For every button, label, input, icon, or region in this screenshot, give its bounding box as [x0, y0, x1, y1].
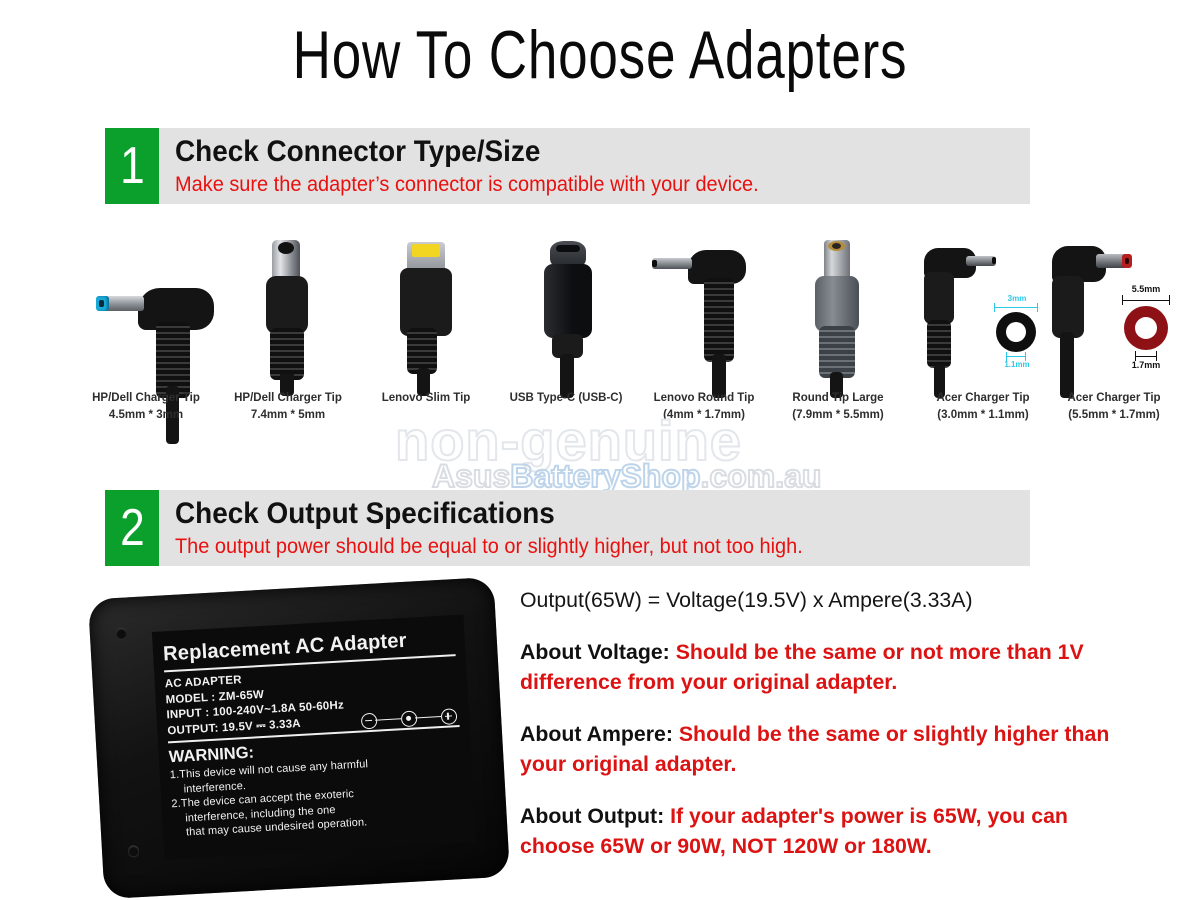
step-1-number-badge: 1: [105, 128, 159, 204]
connector-name: Lenovo Round Tip: [654, 392, 755, 404]
connector-size: (5.5mm * 1.7mm): [1038, 407, 1190, 424]
watermark-site-prefix: Asus: [432, 458, 510, 494]
connector-item-acer-5_5mm: 5.5mm 1.7mm Acer Charger Tip (5.5mm * 1.…: [1038, 236, 1190, 441]
connector-item-usb-c: USB Type-C (USB-C): [500, 236, 632, 441]
step-1-header: 1 Check Connector Type/Size Make sure th…: [105, 128, 1030, 204]
connector-caption: Acer Charger Tip (5.5mm * 1.7mm): [1038, 390, 1190, 424]
page-title: How To Choose Adapters: [132, 18, 1068, 92]
connector-caption: Lenovo Slim Tip: [352, 390, 500, 407]
acer-tip-large-icon: 5.5mm 1.7mm: [1038, 236, 1190, 388]
connector-item-lenovo-slim: Lenovo Slim Tip: [360, 236, 492, 441]
connector-size: (3.0mm * 1.1mm): [908, 407, 1058, 424]
connector-caption: Lenovo Round Tip (4mm * 1.7mm): [630, 390, 778, 424]
connector-caption: Round Tip Large (7.9mm * 5.5mm): [764, 390, 912, 424]
connector-gallery: HP/Dell Charger Tip 4.5mm * 3mm HP/Dell …: [60, 236, 1150, 441]
acer-large-callout: 5.5mm 1.7mm: [1108, 284, 1184, 376]
connector-name: Lenovo Slim Tip: [382, 392, 471, 404]
adapter-brick-body: Replacement AC Adapter AC ADAPTER MODEL …: [88, 577, 510, 899]
connector-size: (4mm * 1.7mm): [630, 407, 778, 424]
connector-name: HP/Dell Charger Tip: [92, 392, 200, 404]
connector-name: Acer Charger Tip: [1067, 392, 1160, 404]
label-warning-body: 1.This device will not cause any harmful…: [169, 752, 467, 841]
connector-name: Acer Charger Tip: [936, 392, 1029, 404]
step-1-number: 1: [120, 140, 145, 192]
round-tip-large-icon: [772, 236, 904, 388]
step-2-subtitle: The output power should be equal to or s…: [175, 534, 803, 560]
step-2-number: 2: [120, 502, 145, 554]
step-1-title: Check Connector Type/Size: [175, 135, 746, 169]
step-2-number-badge: 2: [105, 490, 159, 566]
lenovo-round-tip-icon: [638, 236, 770, 388]
watermark-site-brand: BatteryShop: [510, 458, 700, 494]
about-voltage-label: About Voltage:: [520, 640, 670, 664]
barrel-straight-icon: [222, 236, 354, 388]
label-heading: Replacement AC Adapter: [162, 625, 451, 667]
connector-caption: HP/Dell Charger Tip 7.4mm * 5mm: [214, 390, 362, 424]
connector-size: (7.9mm * 5.5mm): [764, 407, 912, 424]
step-2-header: 2 Check Output Specifications The output…: [105, 490, 1030, 566]
usb-c-icon: [500, 236, 632, 388]
connector-item-hp-dell-7_4mm: HP/Dell Charger Tip 7.4mm * 5mm: [222, 236, 354, 441]
adapter-spec-label: Replacement AC Adapter AC ADAPTER MODEL …: [152, 615, 476, 860]
connector-name: Round Tip Large: [792, 392, 883, 404]
connector-item-lenovo-round: Lenovo Round Tip (4mm * 1.7mm): [638, 236, 770, 441]
output-explanation: Output(65W) = Voltage(19.5V) x Ampere(3.…: [520, 585, 1120, 883]
connector-caption: HP/Dell Charger Tip 4.5mm * 3mm: [72, 390, 220, 424]
connector-size: 7.4mm * 5mm: [214, 407, 362, 424]
acer-tip-small-icon: 3mm 1.1mm: [908, 236, 1058, 388]
about-ampere-label: About Ampere:: [520, 722, 673, 746]
ac-adapter-photo: Replacement AC Adapter AC ADAPTER MODEL …: [88, 578, 518, 900]
connector-item-round-large: Round Tip Large (7.9mm * 5.5mm): [772, 236, 904, 441]
about-output-label: About Output:: [520, 804, 664, 828]
step-1-subtitle: Make sure the adapter’s connector is com…: [175, 172, 759, 198]
connector-caption: USB Type-C (USB-C): [492, 390, 640, 407]
about-voltage-row: About Voltage: Should be the same or not…: [520, 637, 1114, 697]
acer-large-outer-dim: 5.5mm: [1108, 284, 1184, 294]
acer-large-inner-dim: 1.7mm: [1108, 360, 1184, 370]
infographic-page: How To Choose Adapters 1 Check Connector…: [0, 0, 1200, 900]
connector-name: HP/Dell Charger Tip: [234, 392, 342, 404]
about-ampere-row: About Ampere: Should be the same or slig…: [520, 719, 1114, 779]
connector-item-hp-dell-4_5mm: HP/Dell Charger Tip 4.5mm * 3mm: [80, 236, 212, 441]
output-formula: Output(65W) = Voltage(19.5V) x Ampere(3.…: [520, 585, 1114, 615]
connector-name: USB Type-C (USB-C): [510, 392, 623, 404]
step-1-text: Check Connector Type/Size Make sure the …: [159, 128, 789, 204]
step-2-text: Check Output Specifications The output p…: [159, 490, 836, 566]
lenovo-slim-tip-icon: [360, 236, 492, 388]
hp-dell-right-angle-icon: [80, 236, 212, 388]
about-output-row: About Output: If your adapter's power is…: [520, 801, 1114, 861]
step-2-title: Check Output Specifications: [175, 497, 790, 531]
connector-size: 4.5mm * 3mm: [72, 407, 220, 424]
connector-item-acer-3mm: 3mm 1.1mm Acer Charger Tip (3.0mm * 1.1m…: [908, 236, 1058, 441]
watermark-site-suffix: .com.au: [701, 458, 822, 494]
connector-caption: Acer Charger Tip (3.0mm * 1.1mm): [908, 390, 1058, 424]
